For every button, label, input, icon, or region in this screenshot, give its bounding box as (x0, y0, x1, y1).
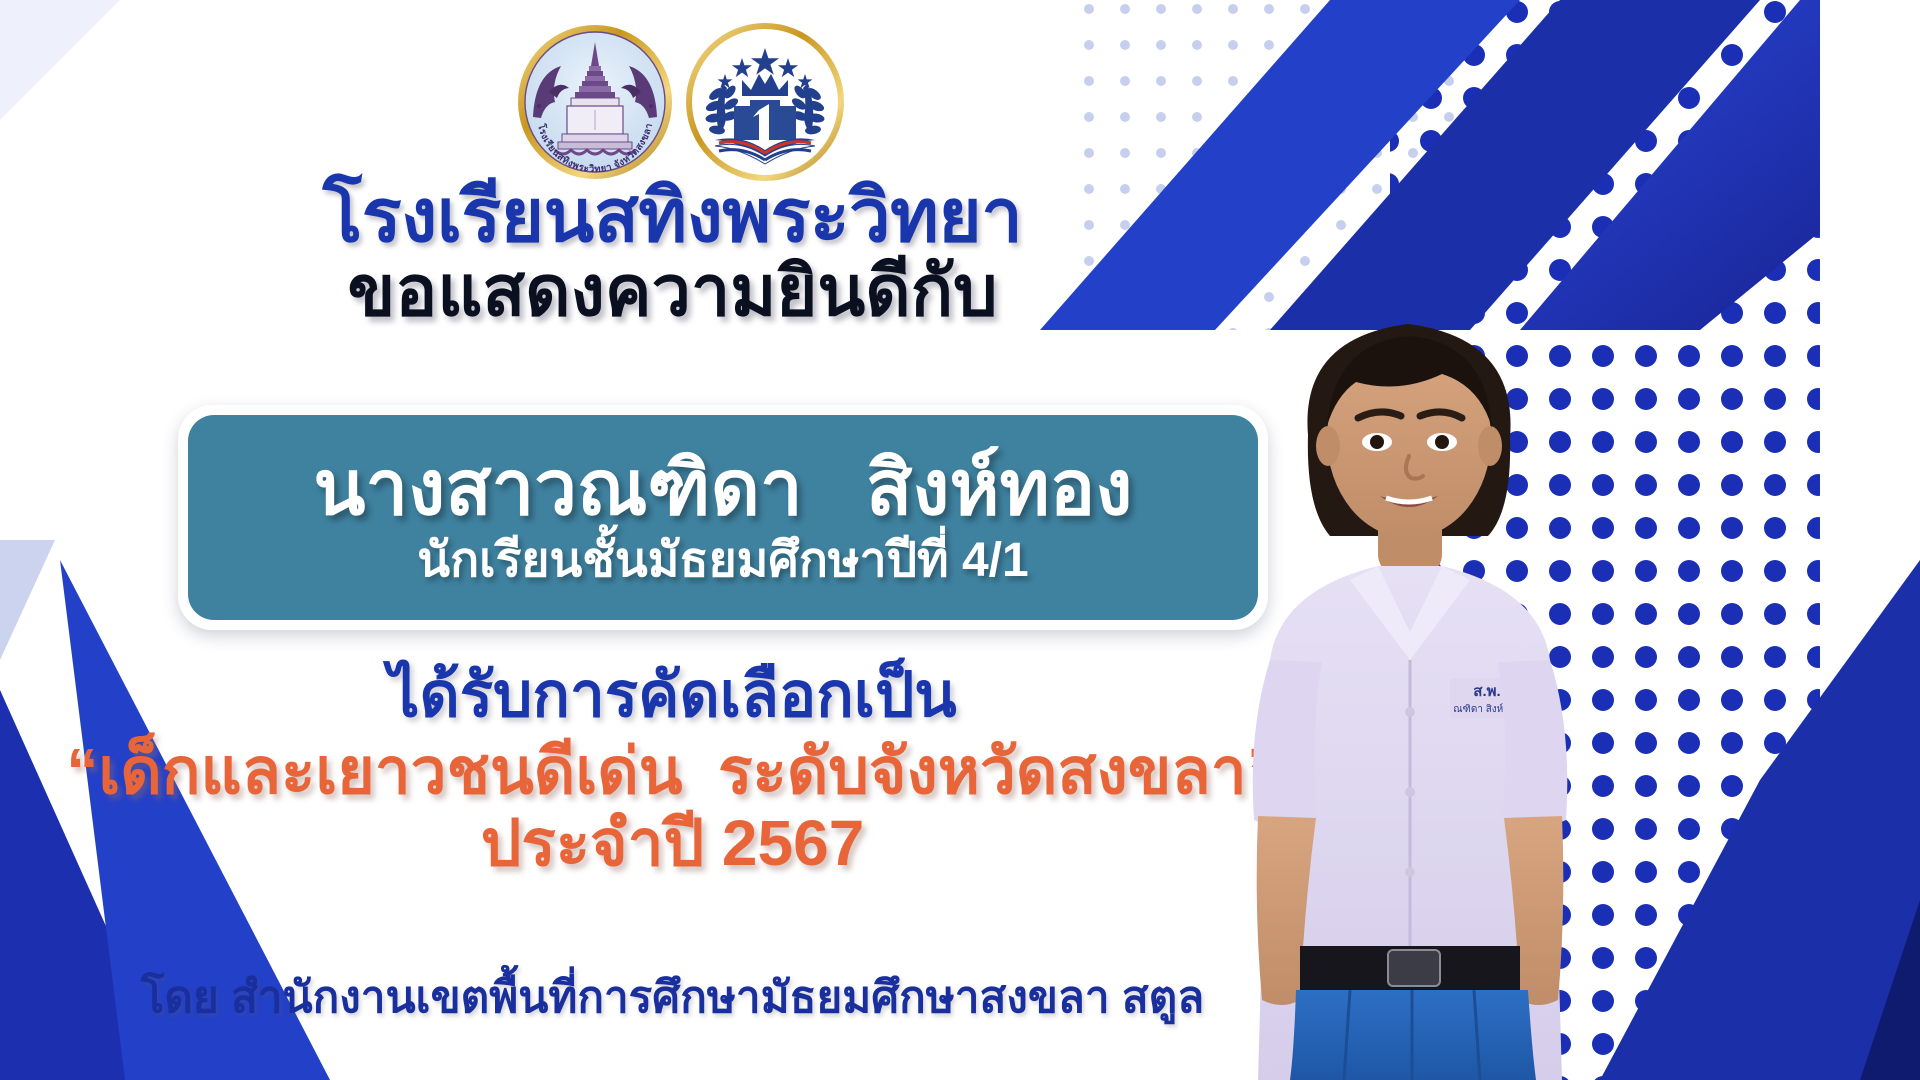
ribbon-top-4 (1855, 0, 1920, 120)
issuer-text: โดย สำนักงานเขตพื้นที่การศึกษามัธยมศึกษา… (0, 962, 1345, 1032)
award-lead-text: ได้รับการคัดเลือกเป็น (0, 662, 1345, 730)
award-emblem-icon (685, 22, 845, 182)
sleeve-left (1253, 660, 1322, 827)
award-block: ได้รับการคัดเลือกเป็น “เด็กและเยาวชนดีเด… (0, 662, 1345, 880)
congratulations-poster: โรงเรียนสทิงพระวิทยา จังหวัดสงขลา (0, 0, 1920, 1080)
right-white-strip (1820, 0, 1920, 1080)
student-photo: ส.พ. ณฑิดา สิงห์ทอง (1150, 260, 1670, 1080)
school-name-text: โรงเรียนสทิงพระวิทยา (0, 178, 1345, 253)
school-seal-icon: โรงเรียนสทิงพระวิทยา จังหวัดสงขลา (515, 22, 675, 182)
ribbon-bottom-left-3 (0, 540, 55, 660)
student-name-card-inner: นางสาวณฑิดา สิงห์ทอง นักเรียนชั้นมัธยมศึ… (188, 415, 1258, 620)
award-year-text: ประจำปี 2567 (0, 808, 1345, 880)
student-name-text: นางสาวณฑิดา สิงห์ทอง (314, 447, 1133, 531)
headline-block: โรงเรียนสทิงพระวิทยา ขอแสดงความยินดีกับ (0, 178, 1345, 329)
student-name-card: นางสาวณฑิดา สิงห์ทอง นักเรียนชั้นมัธยมศึ… (178, 405, 1268, 630)
congratulation-text: ขอแสดงความยินดีกับ (0, 255, 1345, 329)
ribbon-bottom-right-2 (1860, 900, 1920, 1080)
belt-buckle (1388, 950, 1440, 986)
svg-text:ส.พ.: ส.พ. (1473, 683, 1500, 700)
sleeve-right (1498, 660, 1567, 827)
student-class-text: นักเรียนชั้นมัธยมศึกษาปีที่ 4/1 (417, 534, 1028, 588)
corner-accent-top-left (0, 0, 120, 120)
award-title-text: “เด็กและเยาวชนดีเด่น ระดับจังหวัดสงขลา” (0, 736, 1345, 808)
emblem-row: โรงเรียนสทิงพระวิทยา จังหวัดสงขลา (500, 22, 860, 182)
